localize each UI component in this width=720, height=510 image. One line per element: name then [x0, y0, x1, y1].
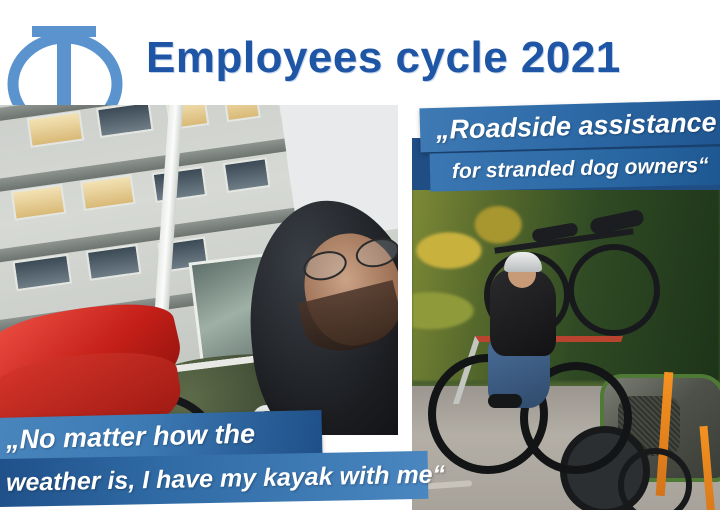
caption-top-right-line1: „Roadside assistance: [419, 100, 720, 153]
photo-left: [0, 105, 398, 435]
cyclist-shoe: [488, 394, 522, 408]
caption-bottom-left-line2: weather is, I have my kayak with me“: [0, 451, 428, 507]
poster-canvas: Employees cycle 2021: [0, 0, 720, 510]
caption-top-right-line2: for stranded dog owners“: [430, 146, 720, 191]
helmet-icon: [504, 252, 542, 272]
photo-right: [412, 186, 720, 510]
page-title: Employees cycle 2021: [146, 33, 621, 83]
